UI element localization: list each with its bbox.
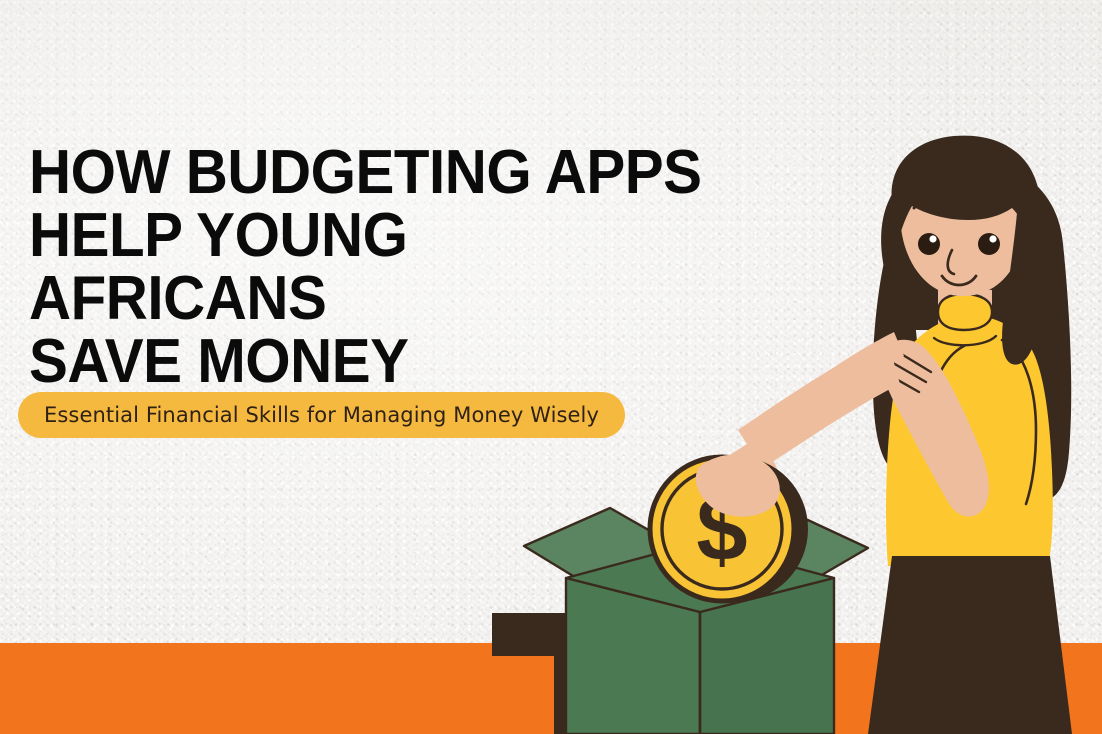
page-title: HOW BUDGETING APPS HELP YOUNG AFRICANS S… — [29, 141, 715, 393]
subtitle-pill: Essential Financial Skills for Managing … — [18, 392, 625, 438]
subtitle-text: Essential Financial Skills for Managing … — [44, 403, 599, 427]
banner-canvas: $ HOW BUDGETING APPS HELP YOUNG AFRICANS… — [0, 0, 1102, 734]
bottom-orange-band — [0, 643, 1102, 734]
